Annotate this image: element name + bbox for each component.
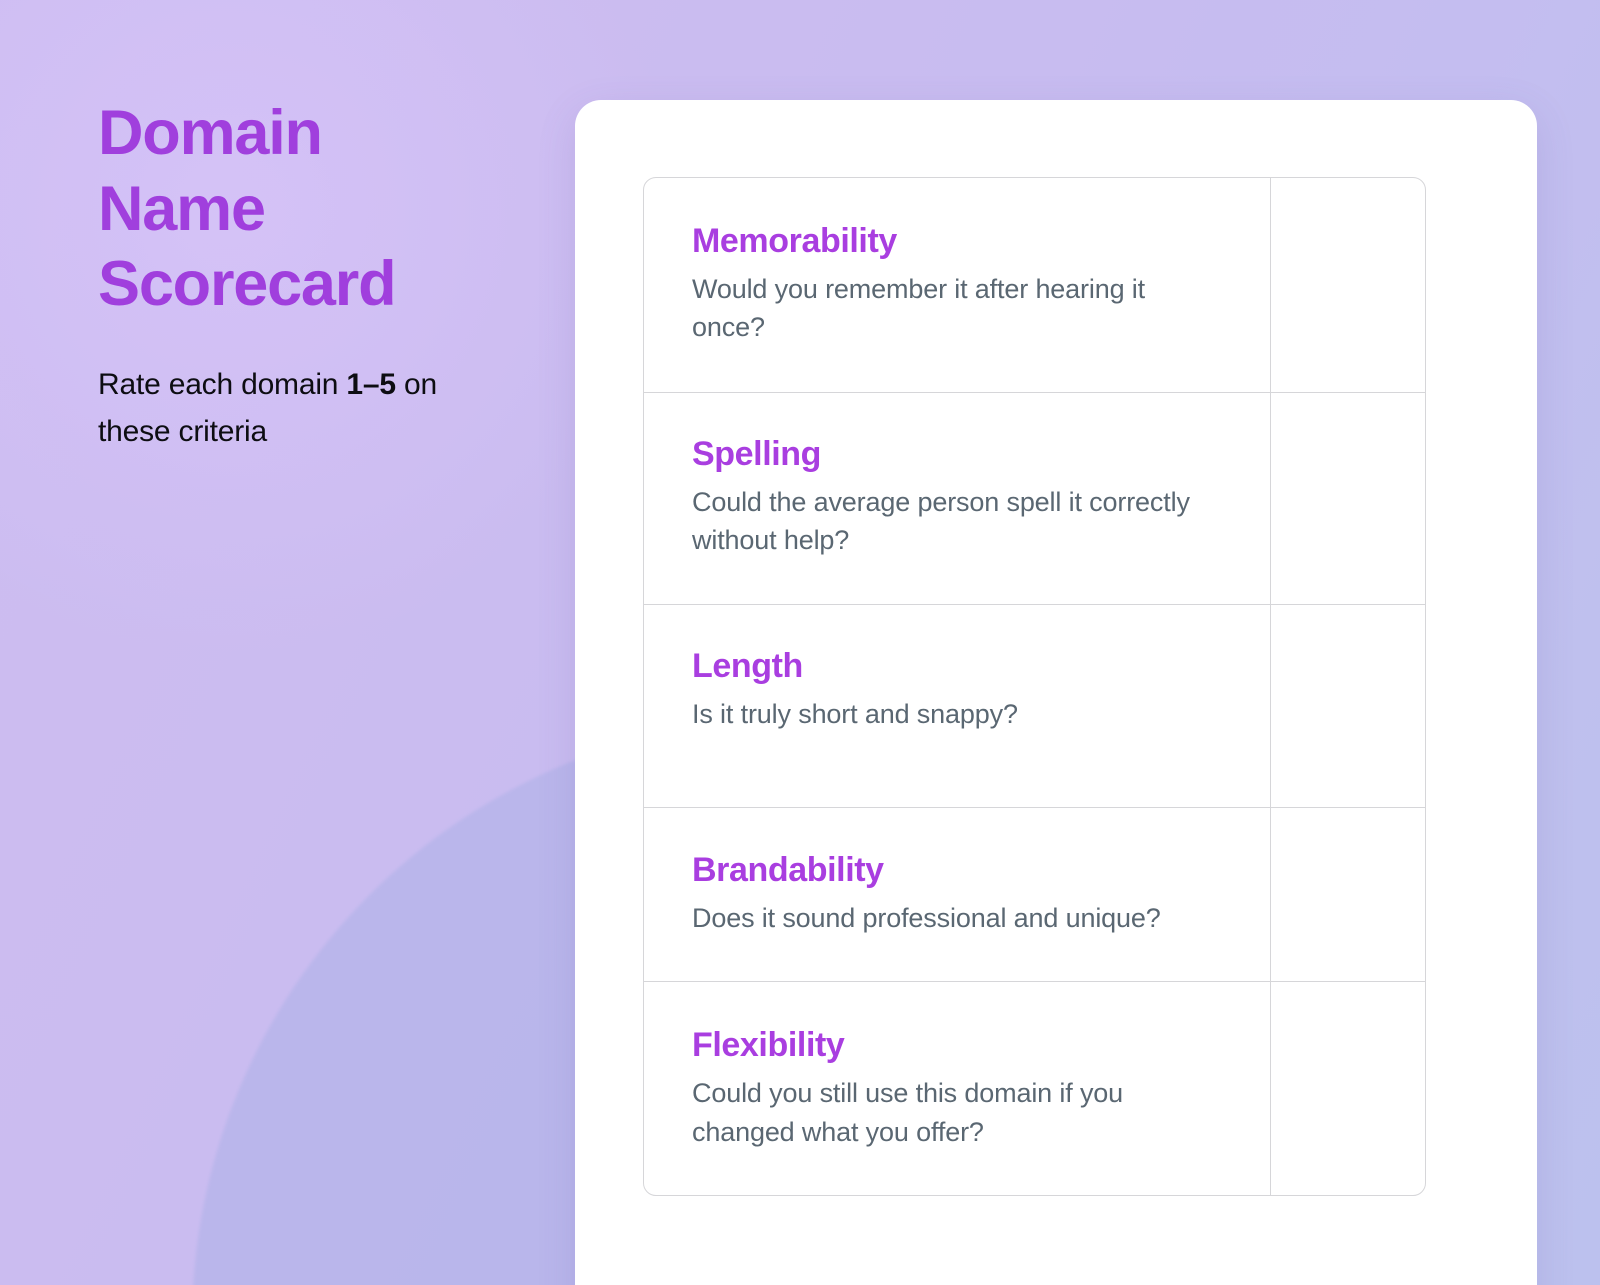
criterion-name: Flexibility: [692, 1026, 1222, 1065]
scorecard-card: Memorability Would you remember it after…: [575, 100, 1537, 1285]
criterion-cell: Memorability Would you remember it after…: [644, 178, 1271, 392]
subtitle-text-before: Rate each domain: [98, 368, 346, 401]
score-input-cell[interactable]: [1271, 605, 1425, 807]
criterion-description: Could the average person spell it correc…: [692, 483, 1192, 560]
scorecard-table: Memorability Would you remember it after…: [643, 177, 1426, 1196]
page-title-line-2: Name: [98, 172, 518, 248]
score-input-cell[interactable]: [1271, 808, 1425, 981]
criterion-description: Does it sound professional and unique?: [692, 899, 1192, 937]
intro-panel: Domain Name Scorecard Rate each domain 1…: [98, 96, 518, 456]
criterion-name: Spelling: [692, 435, 1222, 474]
score-input-cell[interactable]: [1271, 393, 1425, 604]
criterion-cell: Spelling Could the average person spell …: [644, 393, 1271, 604]
criterion-cell: Flexibility Could you still use this dom…: [644, 982, 1271, 1195]
table-row: Length Is it truly short and snappy?: [644, 605, 1425, 808]
criterion-description: Could you still use this domain if you c…: [692, 1074, 1192, 1151]
score-input-cell[interactable]: [1271, 178, 1425, 392]
criterion-description: Is it truly short and snappy?: [692, 695, 1192, 733]
table-row: Memorability Would you remember it after…: [644, 178, 1425, 393]
page-title: Domain Name Scorecard: [98, 96, 518, 323]
criterion-description: Would you remember it after hearing it o…: [692, 270, 1192, 347]
criterion-name: Brandability: [692, 851, 1222, 890]
criterion-cell: Brandability Does it sound professional …: [644, 808, 1271, 981]
criterion-name: Length: [692, 647, 1222, 686]
page-subtitle: Rate each domain 1–5 on these criteria: [98, 361, 488, 456]
table-row: Spelling Could the average person spell …: [644, 393, 1425, 605]
criterion-cell: Length Is it truly short and snappy?: [644, 605, 1271, 807]
table-row: Flexibility Could you still use this dom…: [644, 982, 1425, 1195]
page-title-line-1: Domain: [98, 96, 518, 172]
subtitle-rating-range: 1–5: [346, 368, 395, 401]
page-title-line-3: Scorecard: [98, 247, 518, 323]
score-input-cell[interactable]: [1271, 982, 1425, 1195]
table-row: Brandability Does it sound professional …: [644, 808, 1425, 982]
criterion-name: Memorability: [692, 222, 1222, 261]
